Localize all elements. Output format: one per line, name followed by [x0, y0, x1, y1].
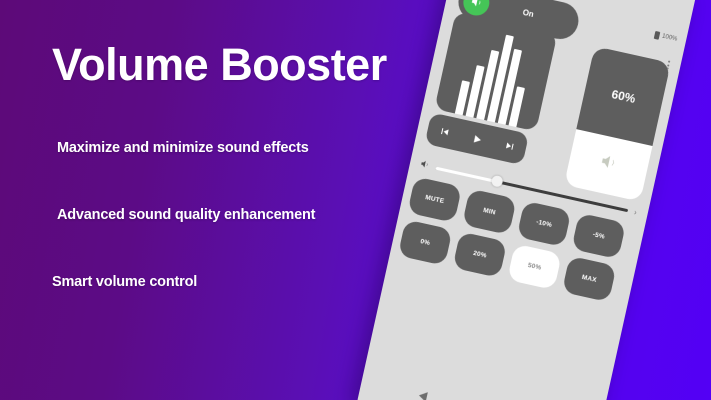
page-title: Volume Booster: [52, 42, 387, 87]
equalizer-panel: [434, 11, 557, 131]
feature-list: Maximize and minimize sound effects Adva…: [52, 140, 382, 341]
preset-button-50[interactable]: 50%: [507, 244, 562, 291]
speaker-small-icon: [418, 155, 432, 175]
preset-button-0[interactable]: 0%: [398, 219, 453, 266]
preset-button-minus10[interactable]: -10%: [517, 201, 572, 248]
speaker-volume-icon: [597, 151, 620, 177]
volume-percent-label: 60%: [610, 87, 636, 106]
feature-item: Maximize and minimize sound effects: [57, 140, 382, 156]
preset-button-min[interactable]: MIN: [462, 189, 517, 236]
preset-button-max[interactable]: MAX: [562, 256, 617, 303]
feature-item: Advanced sound quality enhancement: [57, 207, 382, 223]
volume-slider-fill: [435, 166, 497, 183]
play-icon[interactable]: [469, 131, 485, 147]
skip-previous-icon[interactable]: [437, 124, 451, 138]
chevron-right-icon[interactable]: ›: [633, 207, 638, 216]
phone-mockup: 10:27 Volume Booster 100%: [357, 0, 696, 400]
preset-button-mute[interactable]: MUTE: [407, 176, 462, 223]
promo-banner: Volume Booster Maximize and minimize sou…: [0, 0, 711, 400]
preset-button-20[interactable]: 20%: [452, 231, 507, 278]
volume-meter[interactable]: 60%: [564, 46, 671, 202]
volume-meter-fill: 60%: [576, 46, 671, 146]
preset-button-minus5[interactable]: -5%: [571, 213, 626, 260]
triangle-back-icon[interactable]: [418, 391, 428, 400]
phone-screen: 10:27 Volume Booster 100%: [357, 0, 696, 400]
feature-item: Smart volume control: [52, 274, 382, 290]
volume-slider-thumb[interactable]: [491, 175, 504, 188]
app-body: On: [357, 0, 689, 400]
skip-next-icon[interactable]: [502, 139, 516, 153]
